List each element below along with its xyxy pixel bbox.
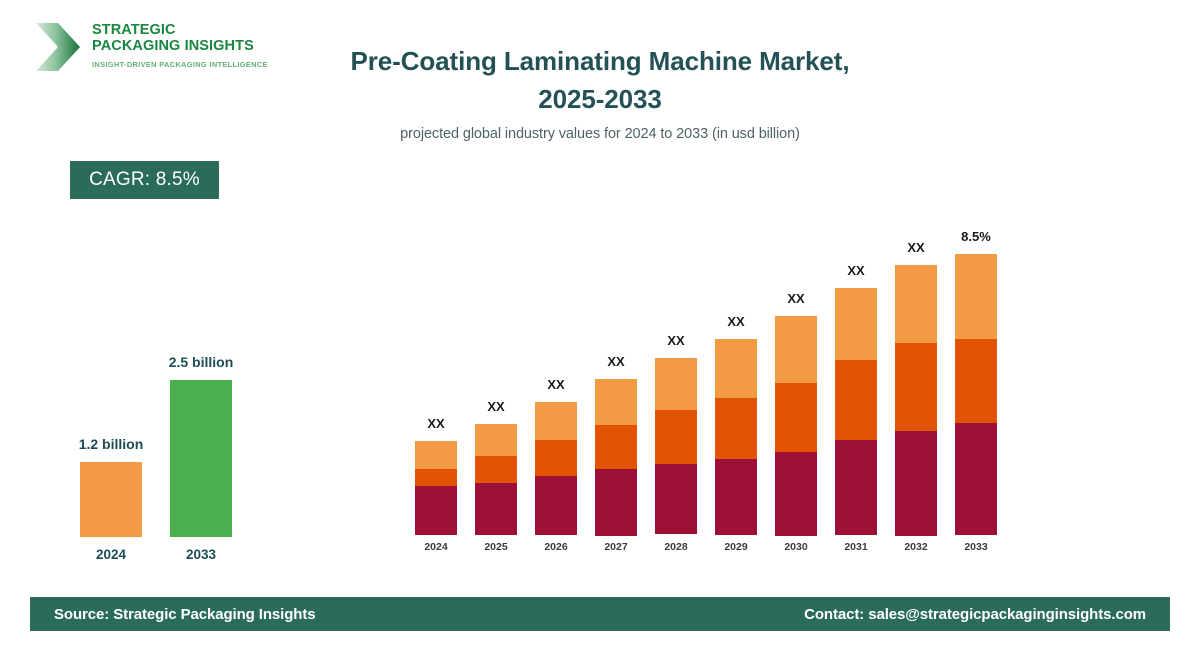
stacked-bar-segment [595, 379, 637, 425]
stacked-bar-segment [895, 343, 937, 431]
stacked-bar-group [415, 441, 457, 535]
stacked-bar-segment [955, 339, 997, 423]
stacked-bar-segment [415, 441, 457, 469]
stacked-bar-segment [895, 265, 937, 343]
stacked-bar-segment [895, 431, 937, 536]
stacked-bar-segment [595, 425, 637, 469]
stacked-bar-group [895, 265, 937, 535]
stacked-bar-segment [535, 440, 577, 476]
stacked-bar-top-label: XX [826, 263, 886, 278]
stacked-bar-segment [655, 464, 697, 534]
stacked-bar-x-label: 2028 [646, 541, 706, 553]
stacked-bar-x-label: 2026 [526, 541, 586, 553]
stacked-bar-group [835, 288, 877, 535]
stacked-bar-segment [955, 254, 997, 339]
stacked-bar-group [775, 316, 817, 535]
comparison-bar [170, 380, 232, 537]
stacked-bar-segment [835, 440, 877, 535]
stacked-bar-segment [775, 383, 817, 452]
stacked-bar-x-label: 2024 [406, 541, 466, 553]
stacked-bar-top-label: XX [466, 399, 526, 414]
stacked-bar-segment [775, 316, 817, 383]
stacked-bar-top-label: XX [526, 377, 586, 392]
stacked-bar-group [655, 358, 697, 535]
stacked-bar-top-label: XX [406, 416, 466, 431]
stacked-bar-x-label: 2029 [706, 541, 766, 553]
footer-contact: Contact: sales@strategicpackaginginsight… [804, 606, 1146, 623]
comparison-bar-x-label: 2024 [71, 547, 151, 562]
stacked-bar-group [475, 424, 517, 535]
stacked-bar-segment [475, 424, 517, 456]
market-size-comparison-chart: 1.2 billion20242.5 billion2033 [0, 0, 320, 650]
stacked-bar-segment [535, 402, 577, 440]
stacked-bar-segment [475, 483, 517, 535]
stacked-bar-segment [595, 469, 637, 536]
comparison-bar-x-label: 2033 [161, 547, 241, 562]
stacked-bar-segment [415, 486, 457, 535]
comparison-bar-value-label: 1.2 billion [61, 436, 161, 452]
stacked-bar-group [715, 339, 757, 535]
projected-stacked-forecast-chart: XX2024XX2025XX2026XX2027XX2028XX2029XX20… [400, 0, 1020, 650]
stacked-bar-top-label: XX [586, 354, 646, 369]
stacked-bar-top-label: 8.5% [946, 229, 1006, 244]
footer-source: Source: Strategic Packaging Insights [54, 606, 315, 623]
stacked-bar-segment [475, 456, 517, 483]
stacked-bar-group [955, 254, 997, 535]
infographic-page: STRATEGIC PACKAGING INSIGHTS INSIGHT-DRI… [0, 0, 1200, 650]
stacked-bar-segment [835, 288, 877, 360]
stacked-bar-x-label: 2027 [586, 541, 646, 553]
stacked-bar-x-label: 2031 [826, 541, 886, 553]
stacked-bar-x-label: 2025 [466, 541, 526, 553]
stacked-bar-top-label: XX [886, 240, 946, 255]
stacked-bar-group [595, 379, 637, 535]
stacked-bar-group [535, 402, 577, 535]
stacked-bar-segment [535, 476, 577, 535]
footer-bar: Source: Strategic Packaging Insights Con… [30, 597, 1170, 631]
comparison-bar-value-label: 2.5 billion [151, 354, 251, 370]
stacked-bar-segment [955, 423, 997, 535]
comparison-bar [80, 462, 142, 537]
stacked-bar-segment [715, 339, 757, 398]
stacked-bar-segment [415, 469, 457, 486]
stacked-bar-x-label: 2032 [886, 541, 946, 553]
stacked-bar-segment [655, 410, 697, 464]
stacked-bar-segment [715, 398, 757, 459]
stacked-bar-top-label: XX [766, 291, 826, 306]
stacked-bar-segment [655, 358, 697, 410]
stacked-bar-segment [775, 452, 817, 536]
stacked-bar-x-label: 2033 [946, 541, 1006, 553]
stacked-bar-segment [835, 360, 877, 440]
stacked-bar-x-label: 2030 [766, 541, 826, 553]
stacked-bar-segment [715, 459, 757, 535]
stacked-bar-top-label: XX [646, 333, 706, 348]
stacked-bar-top-label: XX [706, 314, 766, 329]
